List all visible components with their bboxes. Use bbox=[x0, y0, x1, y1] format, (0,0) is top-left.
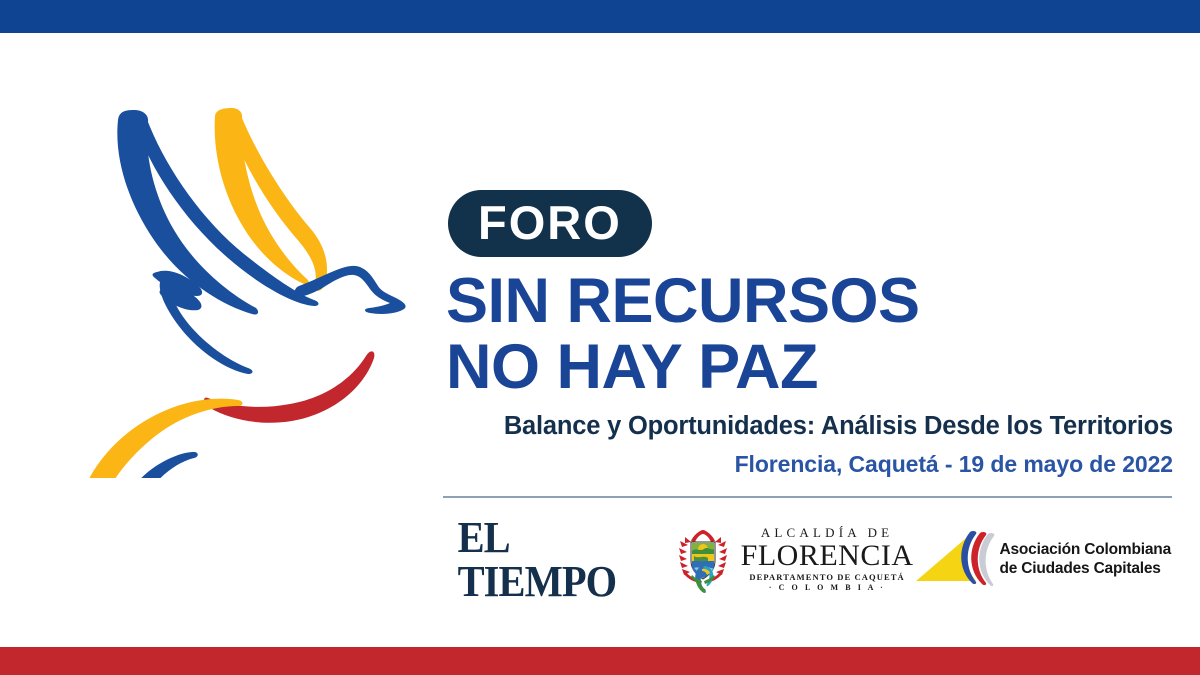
poster-text-block: FORO SIN RECURSOS NO HAY PAZ Balance y O… bbox=[443, 190, 1173, 498]
top-color-bar bbox=[0, 0, 1200, 33]
alcaldia-line-1: ALCALDÍA DE bbox=[741, 526, 914, 540]
alcaldia-line-3: DEPARTAMENTO DE CAQUETÁ bbox=[741, 572, 914, 583]
alcaldia-line-4: · C O L O M B I A · bbox=[741, 583, 914, 593]
acc-swoosh-icon bbox=[914, 527, 996, 593]
acc-line-2: de Ciudades Capitales bbox=[1000, 560, 1172, 579]
divider-rule bbox=[443, 496, 1172, 498]
event-poster: FORO SIN RECURSOS NO HAY PAZ Balance y O… bbox=[0, 0, 1200, 675]
sponsor-logo-row: EL TIEMPO bbox=[443, 506, 1175, 614]
poster-subtitle: Balance y Oportunidades: Análisis Desde … bbox=[443, 412, 1173, 441]
foro-badge: FORO bbox=[448, 190, 652, 257]
el-tiempo-logo: EL TIEMPO bbox=[458, 516, 655, 604]
peace-dove-icon bbox=[52, 88, 442, 478]
florencia-coat-of-arms-icon bbox=[674, 525, 732, 595]
page-title: SIN RECURSOS NO HAY PAZ bbox=[446, 269, 1173, 400]
acc-line-1: Asociación Colombiana bbox=[1000, 541, 1172, 560]
bottom-color-bar bbox=[0, 647, 1200, 675]
headline-line-1: SIN RECURSOS bbox=[446, 269, 1173, 335]
headline-line-2: NO HAY PAZ bbox=[446, 335, 1173, 401]
poster-dateline: Florencia, Caquetá - 19 de mayo de 2022 bbox=[443, 451, 1173, 478]
alcaldia-florencia-logo: ALCALDÍA DE FLORENCIA DEPARTAMENTO DE CA… bbox=[674, 525, 914, 595]
alcaldia-line-2: FLORENCIA bbox=[741, 540, 914, 572]
asociacion-ciudades-capitales-logo: Asociación Colombiana de Ciudades Capita… bbox=[914, 527, 1172, 593]
